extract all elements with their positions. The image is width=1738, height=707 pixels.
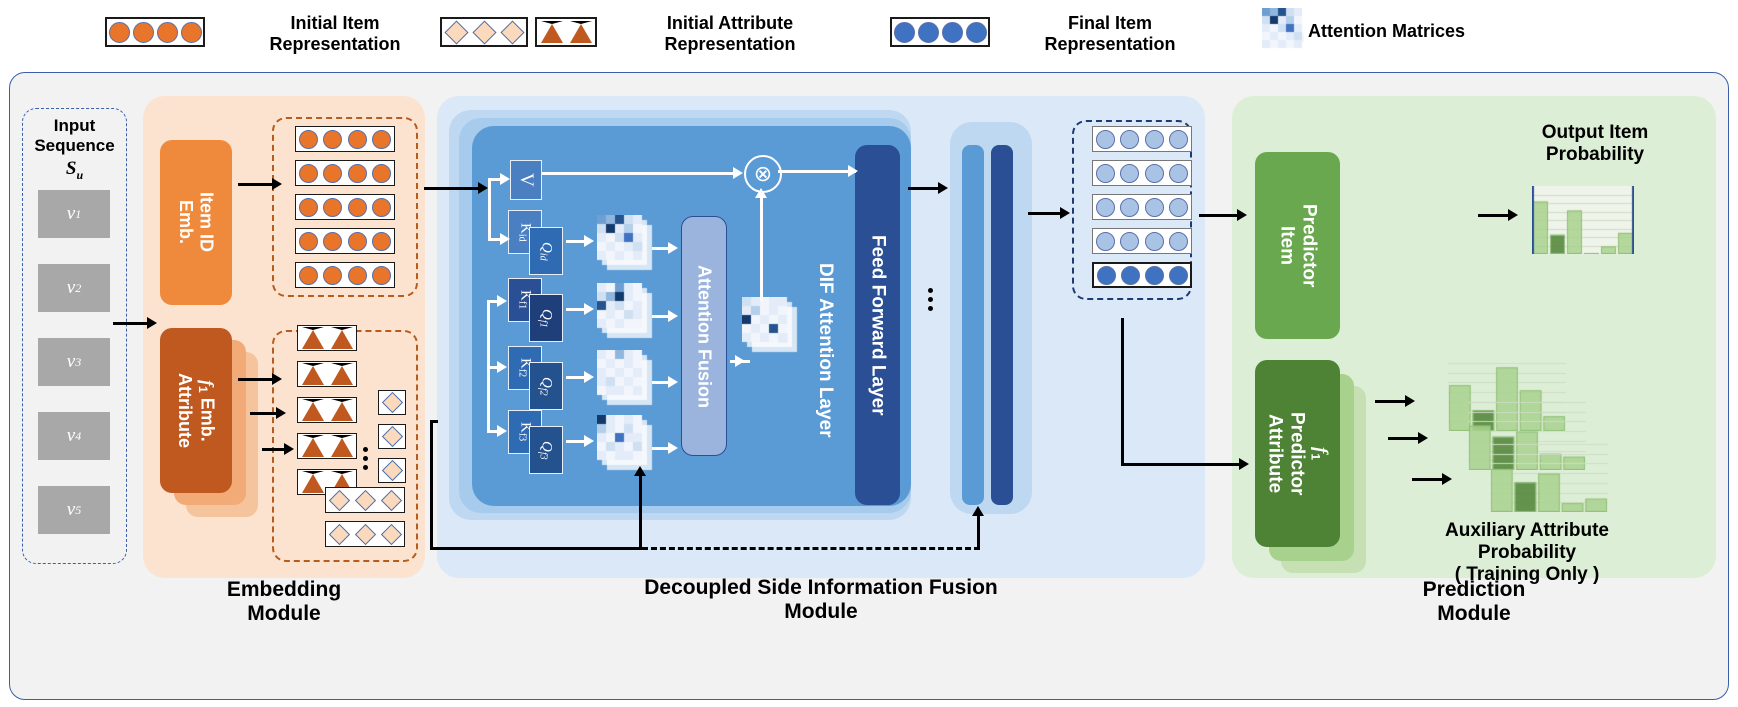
arrow-itemid-to-itemrep bbox=[238, 183, 276, 186]
arrowhead bbox=[500, 173, 510, 185]
arrow-attrpredictor-to-chart2 bbox=[1388, 437, 1422, 440]
circle-orange-icon bbox=[372, 198, 391, 217]
input-sequence-symbol: Su bbox=[22, 158, 127, 183]
arrow-finalrep-to-itempredictor bbox=[1199, 214, 1241, 217]
representation-row bbox=[378, 424, 406, 449]
circle-light-blue-icon bbox=[1120, 198, 1139, 217]
diamond-icon bbox=[500, 20, 524, 44]
prediction-module-caption: Prediction Module bbox=[1232, 578, 1716, 626]
legend-label-initial-attribute: Initial Attribute Representation bbox=[615, 13, 845, 54]
white-split-v bbox=[488, 178, 491, 240]
circle-light-blue-icon bbox=[1120, 232, 1139, 251]
triangle-icon bbox=[570, 21, 592, 43]
attribute-emb-line1: Attribute bbox=[175, 373, 195, 448]
circle-light-blue-icon bbox=[1145, 130, 1164, 149]
representation-row bbox=[378, 390, 406, 415]
circle-orange-icon bbox=[109, 22, 130, 43]
circle-light-blue-icon bbox=[1169, 164, 1188, 183]
value-block-v[interactable]: V bbox=[510, 160, 542, 200]
arrowhead bbox=[668, 376, 678, 388]
circle-light-blue-icon bbox=[1096, 130, 1115, 149]
input-sequence-items: v1v2v3v4v5 bbox=[38, 190, 110, 560]
circle-orange-icon bbox=[372, 232, 391, 251]
attribute-emb-line2: Emb. bbox=[198, 392, 218, 441]
white-multiply-to-ffl bbox=[778, 170, 856, 173]
diamond-icon bbox=[381, 460, 402, 481]
attention-matrix-f1 bbox=[597, 283, 653, 339]
arrowhead bbox=[497, 295, 507, 307]
query-block-q-id[interactable]: Qid bbox=[529, 227, 563, 275]
circle-orange-icon bbox=[323, 232, 342, 251]
representation-row bbox=[295, 262, 395, 288]
arrow-attrpredictor-to-chart1 bbox=[1375, 400, 1409, 403]
arrow-itemrep-to-dif bbox=[424, 187, 482, 190]
circle-orange-icon bbox=[299, 232, 318, 251]
attribute-rows-ellipsis bbox=[363, 447, 368, 470]
representation-row bbox=[325, 487, 405, 513]
arrowhead bbox=[755, 188, 767, 198]
triangle-icon bbox=[331, 399, 353, 421]
item-id-emb-line1: Item ID bbox=[197, 192, 217, 252]
circle-orange-icon bbox=[299, 198, 318, 217]
circle-light-blue-icon bbox=[1096, 164, 1115, 183]
attention-matrix-f2 bbox=[597, 350, 653, 406]
input-item-4: v4 bbox=[38, 412, 110, 460]
circle-orange-icon bbox=[299, 130, 318, 149]
attr-feedback-line-h2 bbox=[430, 547, 642, 550]
arrowhead bbox=[500, 233, 510, 245]
diamond-icon bbox=[381, 392, 402, 413]
arrow-input-to-embedding bbox=[113, 322, 149, 325]
circle-light-blue-icon bbox=[1169, 198, 1188, 217]
arrowhead bbox=[147, 317, 157, 329]
arrowhead bbox=[848, 165, 858, 177]
input-item-2: v2 bbox=[38, 264, 110, 312]
circle-orange-icon bbox=[323, 164, 342, 183]
representation-row bbox=[295, 160, 395, 186]
triangle-icon bbox=[302, 363, 324, 385]
triangle-icon bbox=[302, 399, 324, 421]
arrowhead bbox=[972, 506, 984, 516]
circle-light-blue-icon bbox=[1145, 232, 1164, 251]
arrowhead bbox=[668, 442, 678, 454]
circle-blue-icon bbox=[966, 22, 987, 43]
representation-row bbox=[297, 325, 357, 351]
representation-row bbox=[297, 361, 357, 387]
circle-orange-icon bbox=[157, 22, 178, 43]
input-item-5: v5 bbox=[38, 486, 110, 534]
circle-blue-icon bbox=[942, 22, 963, 43]
diamond-icon bbox=[328, 523, 349, 544]
representation-row bbox=[1092, 126, 1192, 152]
feed-forward-layer-block[interactable]: Feed Forward Layer bbox=[855, 145, 900, 505]
diamond-icon bbox=[380, 523, 401, 544]
fused-attention-matrix bbox=[742, 297, 804, 357]
dif-attention-layer-label: DIF Attention Layer bbox=[808, 200, 842, 500]
circle-orange-icon bbox=[181, 22, 202, 43]
arrowhead bbox=[1237, 209, 1247, 221]
diamond-icon bbox=[354, 489, 375, 510]
circle-orange-icon bbox=[372, 164, 391, 183]
arrowhead bbox=[584, 435, 594, 447]
arrowhead bbox=[478, 182, 488, 194]
arrow-lastlayer-to-finalrep bbox=[1028, 212, 1064, 215]
representation-row bbox=[295, 194, 395, 220]
attr-feedback-line-v bbox=[430, 420, 433, 550]
circle-orange-icon bbox=[299, 266, 318, 285]
arrow-ffl-to-next bbox=[908, 187, 942, 190]
input-item-3: v3 bbox=[38, 338, 110, 386]
representation-row bbox=[1092, 228, 1192, 254]
dif-attention-layer-text: DIF Attention Layer bbox=[814, 263, 836, 438]
circle-blue-icon bbox=[1145, 266, 1164, 285]
circle-orange-icon bbox=[299, 164, 318, 183]
input-sequence-title-line2: Sequence bbox=[34, 136, 114, 155]
circle-orange-icon bbox=[323, 266, 342, 285]
arrowhead bbox=[668, 310, 678, 322]
legend-swatch-attention-matrices bbox=[1262, 8, 1314, 58]
triangle-icon bbox=[302, 471, 324, 493]
circle-blue-icon bbox=[1121, 266, 1140, 285]
diamond-icon bbox=[380, 489, 401, 510]
initial-attribute-diamond-rows bbox=[325, 487, 405, 555]
representation-row bbox=[1092, 160, 1192, 186]
attribute-embedding-block[interactable]: f1 Emb. Attribute bbox=[160, 328, 232, 493]
prediction-caption-line2: Module bbox=[1437, 602, 1511, 625]
diamond-icon bbox=[444, 20, 468, 44]
white-fused-to-multiply bbox=[760, 196, 763, 301]
embedding-caption-line1: Embedding bbox=[227, 578, 341, 601]
attribute-predictor-sub: 1 bbox=[1308, 453, 1322, 460]
item-predictor-line2: Predictor bbox=[1298, 204, 1319, 287]
circle-blue-icon bbox=[918, 22, 939, 43]
representation-row bbox=[325, 521, 405, 547]
circle-orange-icon bbox=[348, 266, 367, 285]
arrowhead bbox=[1060, 207, 1070, 219]
arrowhead bbox=[497, 425, 507, 437]
arrow-attr-to-rep-1 bbox=[238, 378, 276, 381]
item-id-emb-line2: Emb. bbox=[176, 200, 196, 244]
item-predictor-block[interactable]: Predictor Item bbox=[1255, 152, 1340, 339]
circle-light-blue-icon bbox=[1120, 164, 1139, 183]
representation-row bbox=[295, 228, 395, 254]
input-sequence-symbol-sub: u bbox=[76, 168, 83, 182]
arrow-attrpredictor-to-chart3 bbox=[1412, 478, 1446, 481]
attention-matrix-id bbox=[597, 215, 653, 271]
circle-orange-icon bbox=[348, 164, 367, 183]
item-id-embedding-block[interactable]: Item ID Emb. bbox=[160, 140, 232, 305]
legend-label-final-item: Final Item Representation bbox=[1010, 13, 1210, 54]
circle-light-blue-icon bbox=[1145, 198, 1164, 217]
triangle-icon bbox=[331, 363, 353, 385]
circle-orange-icon bbox=[323, 198, 342, 217]
initial-attribute-triangle-rows bbox=[297, 325, 357, 505]
embedding-caption-line2: Module bbox=[247, 602, 321, 625]
circle-orange-icon bbox=[133, 22, 154, 43]
diamond-icon bbox=[354, 523, 375, 544]
legend-swatch-initial-attribute-triangle bbox=[535, 17, 597, 47]
triangle-icon bbox=[302, 435, 324, 457]
aux-line1: Auxiliary Attribute bbox=[1445, 520, 1609, 541]
auxiliary-attribute-probability-chart-3 bbox=[1490, 434, 1608, 517]
arrowhead bbox=[1508, 209, 1518, 221]
arrowhead bbox=[634, 466, 646, 476]
layer-repeat-ellipsis bbox=[928, 288, 933, 311]
representation-row bbox=[1092, 262, 1192, 288]
circle-orange-icon bbox=[348, 130, 367, 149]
legend-label-initial-item: Initial Item Representation bbox=[225, 13, 445, 54]
circle-orange-icon bbox=[372, 266, 391, 285]
arrowhead bbox=[584, 371, 594, 383]
arrowhead bbox=[272, 373, 282, 385]
arrowhead bbox=[272, 178, 282, 190]
circle-light-blue-icon bbox=[1096, 198, 1115, 217]
item-predictor-line1: Item bbox=[1277, 226, 1298, 265]
arrow-itempredictor-to-chart bbox=[1478, 214, 1512, 217]
final-item-representation-rows bbox=[1092, 126, 1192, 296]
output-item-probability-label: Output Item Probability bbox=[1480, 122, 1710, 166]
circle-light-blue-icon bbox=[1120, 130, 1139, 149]
attention-matrix-f3 bbox=[597, 415, 653, 471]
white-v-to-multiply bbox=[542, 172, 738, 175]
circle-orange-icon bbox=[323, 130, 342, 149]
attention-fusion-label: Attention Fusion bbox=[694, 265, 715, 408]
attribute-predictor-block[interactable]: f1 Predictor Attribute bbox=[1255, 360, 1340, 547]
triangle-icon bbox=[331, 327, 353, 349]
prediction-caption-line1: Prediction bbox=[1423, 578, 1526, 601]
input-sequence-symbol-base: S bbox=[66, 158, 77, 179]
circle-blue-icon bbox=[1097, 266, 1116, 285]
auxiliary-attribute-probability-label: Auxiliary Attribute Probability ( Traini… bbox=[1372, 520, 1682, 586]
arrowhead bbox=[1405, 395, 1415, 407]
attr-feedback-line-up bbox=[639, 475, 642, 550]
attr-feedback-dashed-up bbox=[977, 515, 980, 550]
dif-caption-line1: Decoupled Side Information Fusion bbox=[644, 576, 998, 599]
dif-caption-line2: Module bbox=[784, 600, 858, 623]
arrowhead bbox=[497, 361, 507, 373]
arrowhead bbox=[276, 407, 286, 419]
output-item-prob-line2: Probability bbox=[1546, 144, 1644, 165]
circle-light-blue-icon bbox=[1169, 232, 1188, 251]
arrowhead bbox=[733, 167, 743, 179]
attention-fusion-block[interactable]: Attention Fusion bbox=[681, 216, 727, 456]
representation-row bbox=[378, 458, 406, 483]
elbow-finalrep-h bbox=[1121, 463, 1243, 466]
diamond-icon bbox=[472, 20, 496, 44]
output-item-probability-chart bbox=[1532, 186, 1634, 259]
arrowhead bbox=[1418, 432, 1428, 444]
representation-row bbox=[297, 397, 357, 423]
last-layer-attention-bar bbox=[962, 145, 984, 505]
arrowhead bbox=[1442, 473, 1452, 485]
representation-row bbox=[297, 433, 357, 459]
dif-module-caption: Decoupled Side Information Fusion Module bbox=[437, 576, 1205, 624]
diamond-icon bbox=[381, 426, 402, 447]
circle-orange-icon bbox=[348, 232, 367, 251]
arrowhead bbox=[1239, 458, 1249, 470]
circle-light-blue-icon bbox=[1169, 130, 1188, 149]
query-block-q-f2[interactable]: Qf2 bbox=[529, 362, 563, 410]
arrowhead bbox=[668, 242, 678, 254]
diamond-icon bbox=[328, 489, 349, 510]
triangle-icon bbox=[541, 21, 563, 43]
triangle-icon bbox=[302, 327, 324, 349]
legend-label-attention-matrices: Attention Matrices bbox=[1308, 21, 1538, 42]
query-block-q-f1[interactable]: Qf1 bbox=[529, 294, 563, 342]
query-block-q-f3[interactable]: Qf3 bbox=[529, 426, 563, 474]
circle-blue-icon bbox=[1169, 266, 1188, 285]
initial-item-representation-rows bbox=[295, 126, 395, 296]
attr-feedback-dashed-line bbox=[642, 547, 980, 550]
representation-row bbox=[1092, 194, 1192, 220]
circle-orange-icon bbox=[372, 130, 391, 149]
initial-attribute-diamond-column bbox=[378, 390, 406, 492]
representation-row bbox=[295, 126, 395, 152]
legend-swatch-final-item bbox=[890, 17, 990, 47]
arrowhead bbox=[584, 235, 594, 247]
arrowhead bbox=[938, 182, 948, 194]
circle-orange-icon bbox=[348, 198, 367, 217]
last-layer-feedforward-bar bbox=[991, 145, 1013, 505]
input-sequence-title: Input Sequence bbox=[22, 116, 127, 155]
input-item-1: v1 bbox=[38, 190, 110, 238]
circle-blue-icon bbox=[894, 22, 915, 43]
arrowhead bbox=[735, 355, 745, 367]
elbow-finalrep-v bbox=[1121, 318, 1124, 466]
circle-light-blue-icon bbox=[1145, 164, 1164, 183]
attribute-predictor-line2: Predictor bbox=[1287, 412, 1308, 495]
legend-swatch-initial-item bbox=[105, 17, 205, 47]
aux-line2: Probability bbox=[1478, 542, 1576, 563]
architecture-diagram: Initial Item Representation Initial Attr… bbox=[0, 0, 1738, 707]
legend-swatch-initial-attribute-diamond bbox=[440, 17, 528, 47]
input-sequence-title-line1: Input bbox=[54, 116, 96, 135]
feed-forward-layer-label: Feed Forward Layer bbox=[867, 235, 889, 416]
triangle-icon bbox=[331, 435, 353, 457]
output-item-prob-line1: Output Item bbox=[1542, 122, 1649, 143]
attribute-predictor-line1: Attribute bbox=[1265, 414, 1286, 493]
circle-light-blue-icon bbox=[1096, 232, 1115, 251]
arrowhead bbox=[284, 443, 294, 455]
embedding-module-caption: Embedding Module bbox=[143, 578, 425, 626]
arrowhead bbox=[584, 303, 594, 315]
